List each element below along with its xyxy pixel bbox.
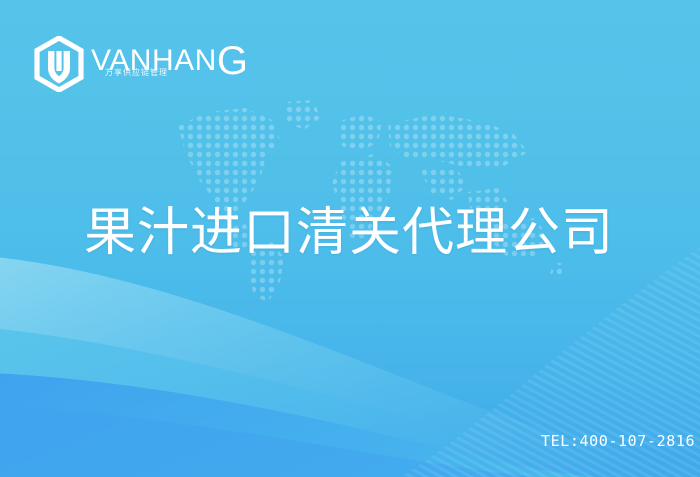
logo-wordmark-block: VANHANG 万享供应链管理	[91, 41, 248, 87]
logo-subtitle: 万享供应链管理	[105, 67, 168, 78]
logo-wordmark-g: G	[217, 39, 248, 83]
contact-phone: TEL:400-107-2816	[541, 432, 695, 450]
page-title: 果汁进口清关代理公司	[84, 204, 614, 262]
hexagon-u-logo-icon	[33, 36, 85, 92]
brand-logo[interactable]: VANHANG 万享供应链管理	[33, 36, 248, 92]
promo-banner: VANHANG 万享供应链管理 果汁进口清关代理公司 TEL:400-107-2…	[0, 0, 700, 477]
